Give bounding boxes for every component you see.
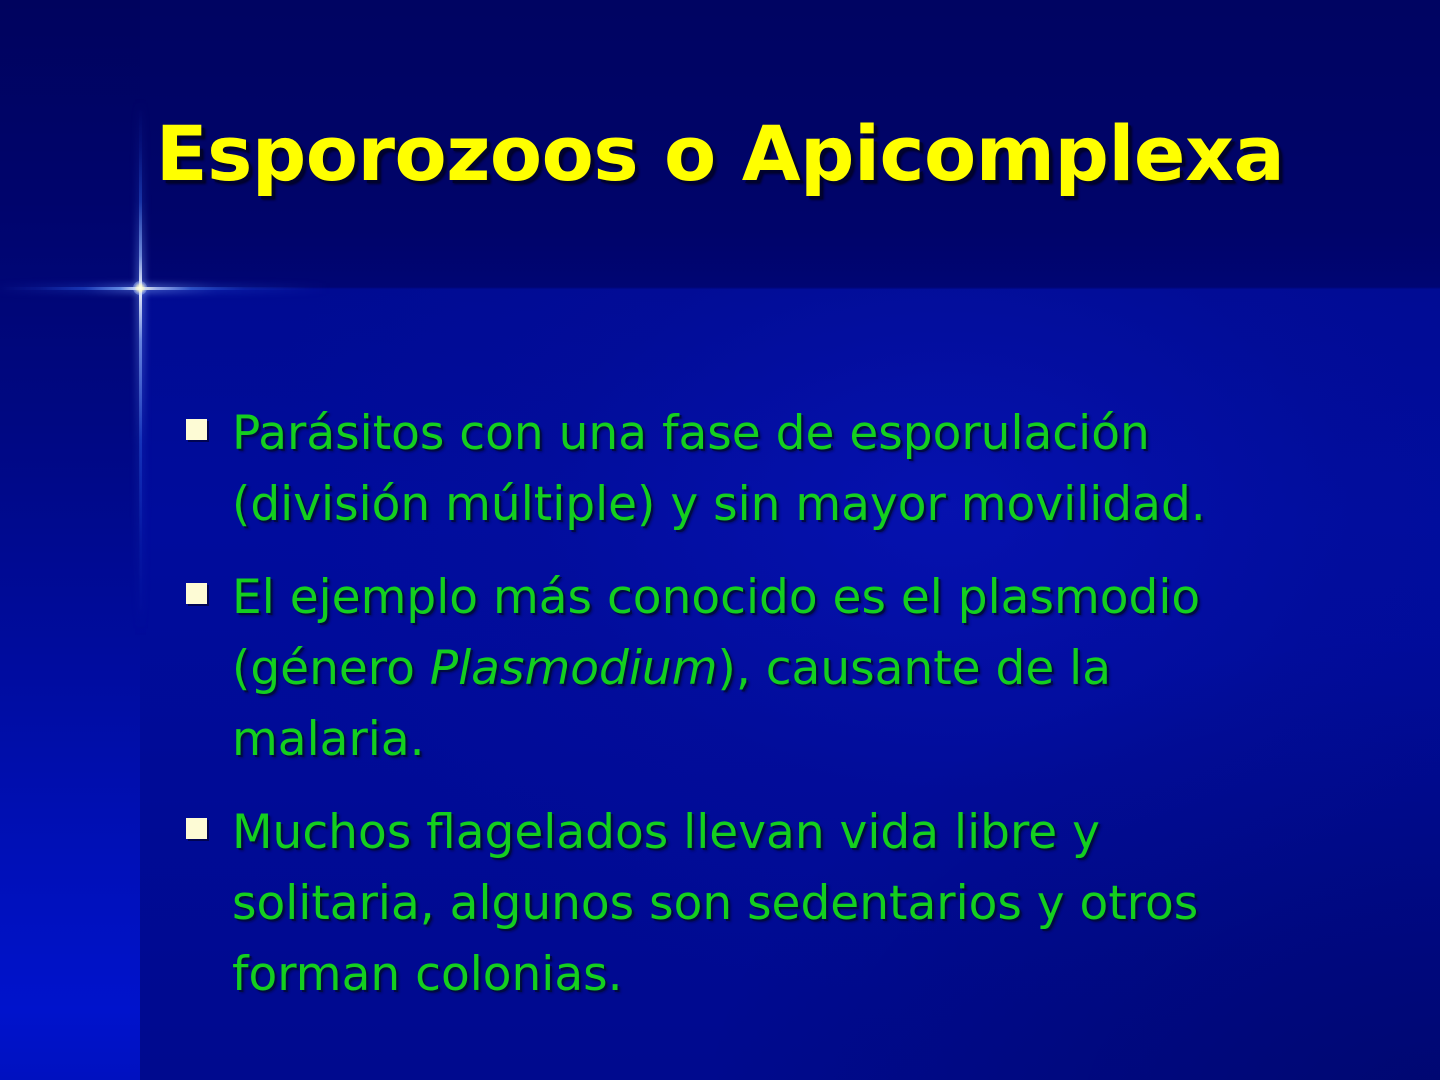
page-title: Esporozoos o Apicomplexa xyxy=(156,108,1285,200)
presentation-slide: Esporozoos o Apicomplexa Parásitos con u… xyxy=(0,0,1440,1080)
text-segment-italic: Plasmodium xyxy=(430,641,718,696)
list-item-text: Muchos flagelados llevan vida libre y so… xyxy=(232,797,1316,1010)
square-bullet-icon xyxy=(186,419,207,440)
square-bullet-icon xyxy=(186,818,207,839)
list-item: Parásitos con una fase de esporulación (… xyxy=(186,398,1316,540)
beam-center-core xyxy=(133,281,147,295)
beam-horizontal-left xyxy=(0,287,140,290)
list-item-text: El ejemplo más conocido es el plasmodio … xyxy=(232,562,1316,775)
beam-horizontal-right xyxy=(140,287,310,290)
text-segment: Muchos flagelados llevan vida libre y so… xyxy=(232,805,1198,1002)
text-segment: Parásitos con una fase de esporulación (… xyxy=(232,406,1206,532)
title-area: Esporozoos o Apicomplexa xyxy=(0,108,1440,200)
list-item: El ejemplo más conocido es el plasmodio … xyxy=(186,562,1316,775)
square-bullet-icon xyxy=(186,583,207,604)
list-item-text: Parásitos con una fase de esporulación (… xyxy=(232,398,1316,540)
beam-vertical-down xyxy=(139,288,142,618)
list-item: Muchos flagelados llevan vida libre y so… xyxy=(186,797,1316,1010)
bullet-list: Parásitos con una fase de esporulación (… xyxy=(186,398,1316,1032)
